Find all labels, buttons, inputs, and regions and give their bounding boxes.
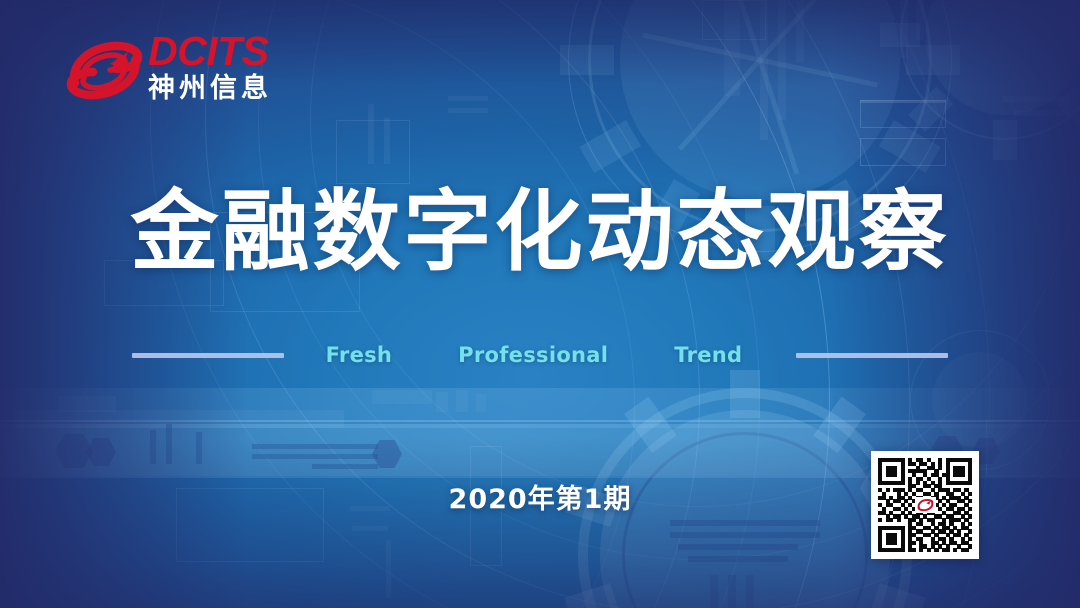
keyword-row: Fresh Professional Trend bbox=[0, 339, 1080, 371]
keyword-fresh: Fresh bbox=[326, 343, 393, 367]
keyword-trend: Trend bbox=[674, 343, 742, 367]
wechat-qr-code[interactable] bbox=[871, 451, 979, 559]
cover-slide: DCITS 神州信息 金融数字化动态观察 Fresh Professional … bbox=[0, 0, 1080, 608]
brand-name-cn: 神州信息 bbox=[148, 73, 272, 104]
page-title: 金融数字化动态观察 bbox=[0, 184, 1080, 280]
brand-name-en: DCITS bbox=[148, 30, 272, 72]
brand-logo-text: DCITS 神州信息 bbox=[148, 30, 272, 104]
brand-logo: DCITS 神州信息 bbox=[66, 30, 326, 116]
keyword-professional: Professional bbox=[458, 343, 608, 367]
dcits-mini-logo-icon bbox=[915, 497, 936, 513]
dcits-swirl-logo-icon bbox=[66, 34, 144, 108]
divider-line-right bbox=[796, 353, 948, 358]
divider-line-left bbox=[132, 353, 284, 358]
